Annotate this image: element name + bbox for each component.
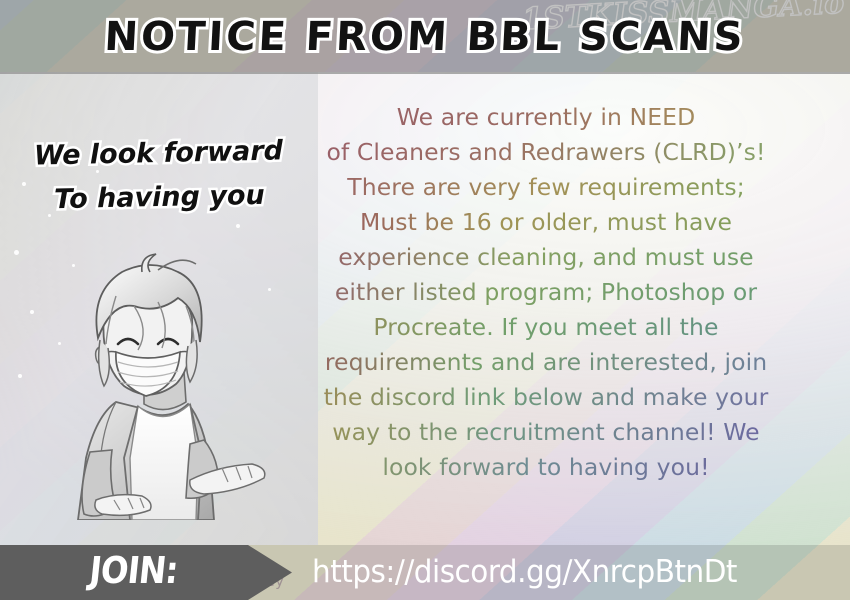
sparkle-dot: [22, 182, 26, 186]
tagline-line-1: We look forward: [34, 135, 284, 171]
discord-invite-link[interactable]: https://discord.gg/XnrcpBtnDt: [312, 554, 737, 590]
underlined-must-be: Must be: [360, 208, 454, 236]
sparkle-dot: [30, 310, 34, 314]
body-line: There are very few requirements;: [312, 170, 780, 205]
sparkle-dot: [48, 214, 51, 217]
join-bar: JOIN: https://discord.gg/XnrcpBtnDt: [0, 545, 850, 600]
page-title: NOTICE FROM BBL SCANS: [0, 0, 850, 74]
sparkle-dot: [96, 170, 99, 173]
sparkle-dot: [14, 250, 19, 255]
notice-body-text: We are currently in NEED of Cleaners and…: [312, 100, 780, 485]
body-line: way to the recruitment channel! We: [312, 415, 780, 450]
header-bar: 1STKISSMANGA.io NOTICE FROM BBL SCANS: [0, 0, 850, 74]
join-label: JOIN:: [87, 549, 179, 592]
tagline-line-2: To having you: [54, 180, 265, 215]
tagline: We look forward To having you: [0, 129, 319, 224]
underlined-need: NEED: [630, 103, 696, 131]
body-line: Procreate. If you meet all the: [312, 310, 780, 345]
body-line: of Cleaners and Redrawers (CLRD)’s!: [312, 135, 780, 170]
masked-character-sketch: [38, 252, 298, 520]
body-line: Must be 16 or older, must have: [312, 205, 780, 240]
sparkle-dot: [18, 374, 22, 378]
left-column: We look forward To having you: [0, 74, 318, 545]
body-line: requirements and are interested, join: [312, 345, 780, 380]
sparkle-dot: [236, 224, 240, 228]
body-line: either listed program; Photoshop or: [312, 275, 780, 310]
body-line: the discord link below and make your: [312, 380, 780, 415]
body-line: experience cleaning, and must use: [312, 240, 780, 275]
body-line: look forward to having you!: [312, 450, 780, 485]
body-line: We are currently in NEED: [312, 100, 780, 135]
notice-image: 1STKISSMANGA.io NOTICE FROM BBL SCANS We…: [0, 0, 850, 600]
